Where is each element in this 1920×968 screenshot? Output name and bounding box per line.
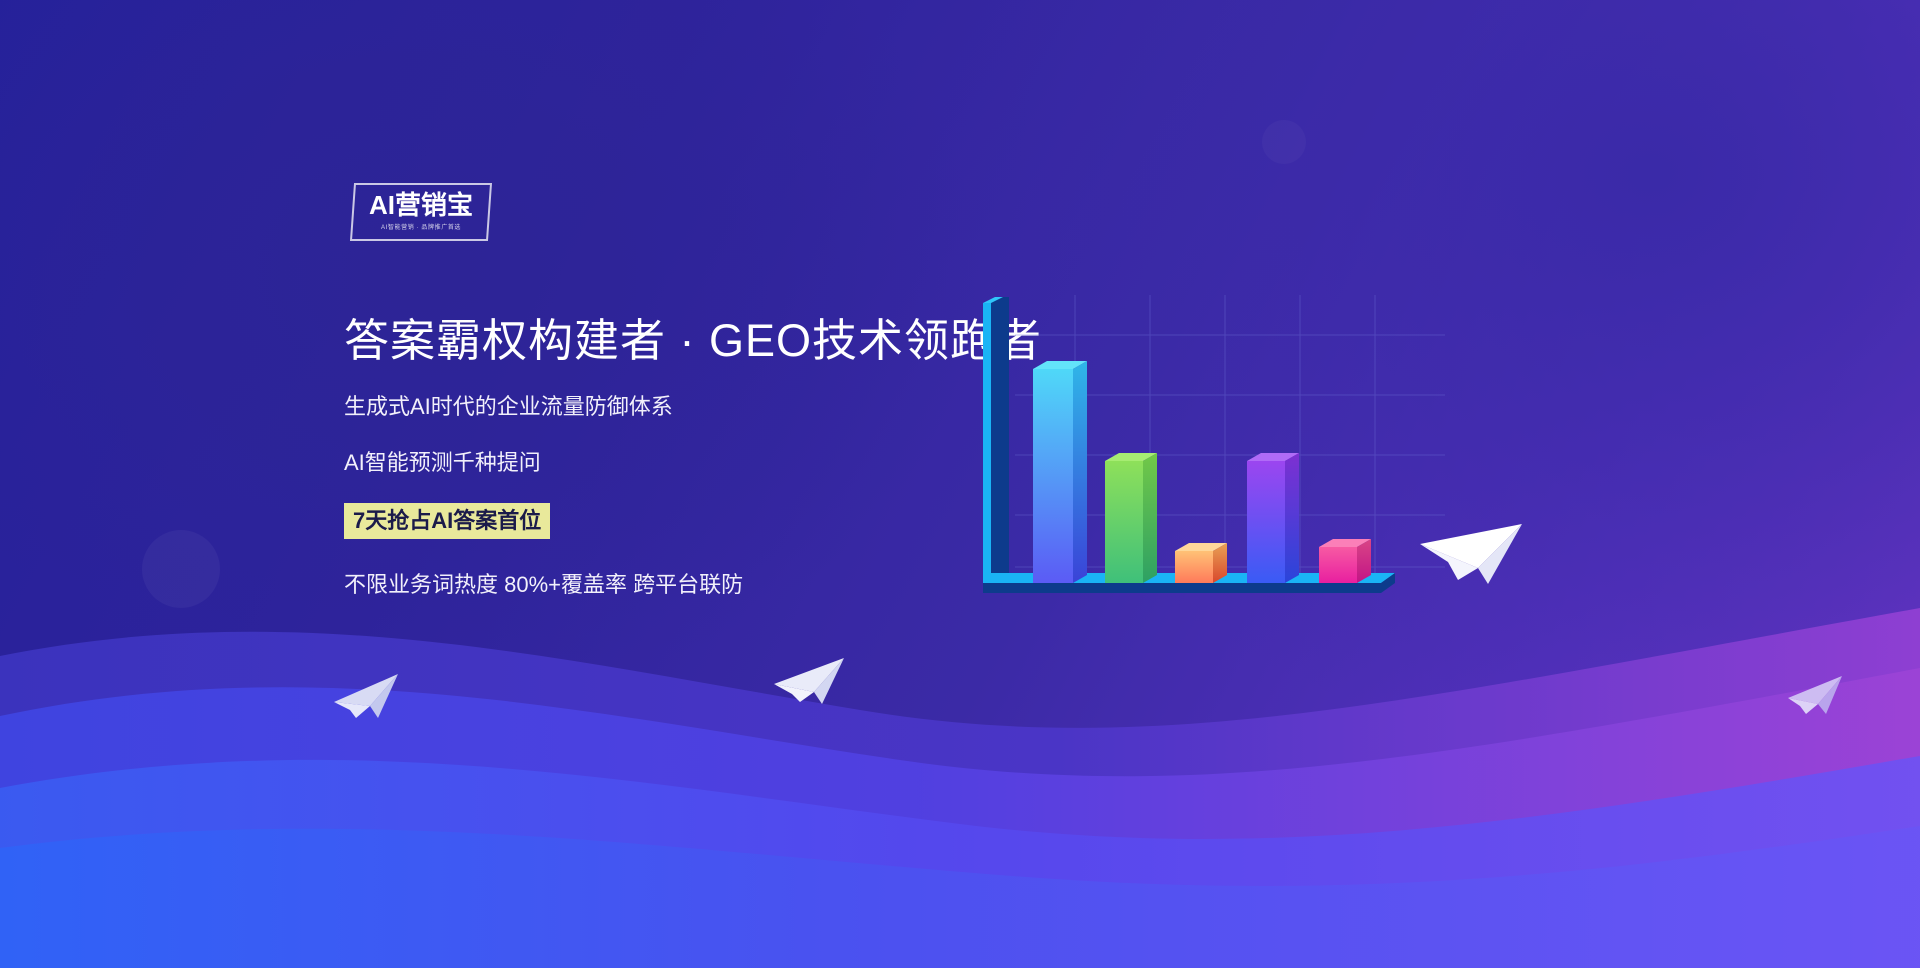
chart-y-axis	[983, 297, 1009, 583]
paper-plane-icon	[332, 668, 404, 727]
chart-bar-1	[1033, 361, 1087, 583]
chart-bar-2	[1105, 453, 1157, 583]
paper-plane-icon	[1786, 672, 1848, 723]
decorative-circle	[1262, 120, 1306, 164]
brand-logo-word: AI营销宝	[369, 192, 473, 219]
hero-highlight-wrapper: 7天抢占AI答案首位	[344, 503, 1064, 539]
chart-bar-5	[1319, 539, 1371, 583]
brand-logo-subtitle: AI智能营销 · 品牌推广首选	[369, 223, 473, 232]
wave-decoration	[0, 548, 1920, 968]
hero-highlight-badge: 7天抢占AI答案首位	[344, 503, 550, 539]
paper-plane-icon	[1418, 518, 1528, 601]
page-title: 答案霸权构建者 · GEO技术领跑者	[344, 314, 1064, 367]
hero-subtitle-3: 不限业务词热度 80%+覆盖率 跨平台联防	[344, 567, 1064, 599]
bar-chart-illustration	[975, 295, 1445, 665]
chart-bar-3	[1175, 543, 1227, 583]
hero-subtitle-1: 生成式AI时代的企业流量防御体系	[344, 394, 1064, 420]
brand-logo[interactable]: AI营销宝 AI智能营销 · 品牌推广首选	[350, 183, 492, 241]
chart-bar-4	[1247, 453, 1299, 583]
paper-plane-icon	[772, 654, 850, 717]
hero-copy: 答案霸权构建者 · GEO技术领跑者 生成式AI时代的企业流量防御体系 AI智能…	[344, 314, 1064, 599]
hero-banner: AI营销宝 AI智能营销 · 品牌推广首选 答案霸权构建者 · GEO技术领跑者…	[0, 0, 1920, 968]
hero-subtitle-2: AI智能预测千种提问	[344, 450, 1064, 476]
